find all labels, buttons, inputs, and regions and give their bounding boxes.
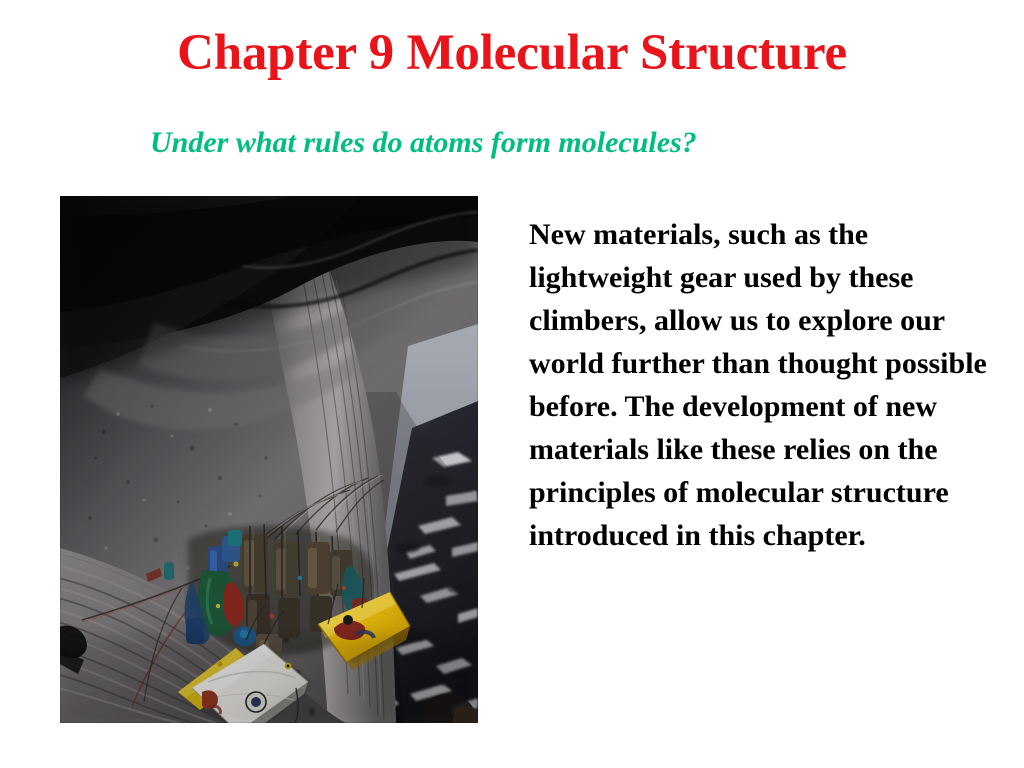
page-title: Chapter 9 Molecular Structure xyxy=(0,24,1024,82)
slide-subtitle: Under what rules do atoms form molecules… xyxy=(150,124,890,162)
climbers-photo-image xyxy=(60,196,478,723)
body-paragraph: New materials, such as the lightweight g… xyxy=(529,213,997,557)
climbers-photo xyxy=(60,196,478,723)
slide-canvas: Chapter 9 Molecular Structure Under what… xyxy=(0,0,1024,768)
